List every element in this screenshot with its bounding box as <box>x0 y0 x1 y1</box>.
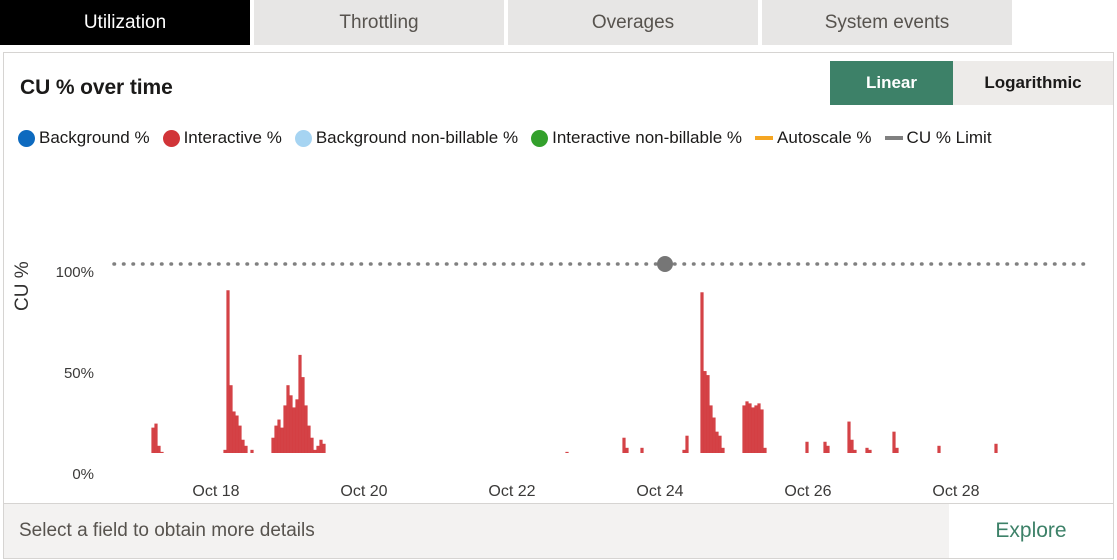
legend-item-background-non-billable[interactable]: Background non-billable % <box>295 128 518 148</box>
chart-legend: Background % Interactive % Background no… <box>18 128 1005 148</box>
card-footer: Select a field to obtain more details Ex… <box>3 504 1114 559</box>
legend-label: Interactive % <box>184 128 282 148</box>
legend-item-background[interactable]: Background % <box>18 128 150 148</box>
tab-label: System events <box>825 12 950 34</box>
legend-label: Interactive non-billable % <box>552 128 742 148</box>
legend-item-interactive-non-billable[interactable]: Interactive non-billable % <box>531 128 742 148</box>
logarithmic-scale-button[interactable]: Logarithmic <box>953 61 1113 105</box>
chart-plot-area[interactable]: CU % 100% 50% 0% Oct 18 Oct 20 Oct 22 Oc… <box>4 163 1113 453</box>
tab-system-events[interactable]: System events <box>762 0 1012 45</box>
legend-item-interactive[interactable]: Interactive % <box>163 128 282 148</box>
tab-bar: Utilization Throttling Overages System e… <box>0 0 1117 45</box>
x-axis-tick: Oct 28 <box>911 483 1001 501</box>
legend-label: Background non-billable % <box>316 128 518 148</box>
explore-button[interactable]: Explore <box>949 504 1113 558</box>
legend-dot-icon <box>163 130 180 147</box>
legend-dot-icon <box>531 130 548 147</box>
legend-dot-icon <box>295 130 312 147</box>
x-axis-tick: Oct 24 <box>615 483 705 501</box>
y-axis-tick: 0% <box>14 466 94 483</box>
legend-dash-icon <box>755 136 773 140</box>
legend-dash-icon <box>885 136 903 140</box>
tab-label: Utilization <box>84 12 166 34</box>
x-axis-tick: Oct 22 <box>467 483 557 501</box>
logarithmic-scale-label: Logarithmic <box>984 73 1081 93</box>
tab-utilization[interactable]: Utilization <box>0 0 250 45</box>
legend-label: Background % <box>39 128 150 148</box>
legend-item-cu-limit[interactable]: CU % Limit <box>885 128 992 148</box>
linear-scale-button[interactable]: Linear <box>830 61 953 105</box>
tab-label: Overages <box>592 12 674 34</box>
scale-toggle: Linear Logarithmic <box>830 61 1113 105</box>
x-axis-tick: Oct 18 <box>171 483 261 501</box>
tab-label: Throttling <box>339 12 418 34</box>
page-title: CU % over time <box>20 76 173 100</box>
linear-scale-label: Linear <box>866 73 917 93</box>
legend-label: CU % Limit <box>907 128 992 148</box>
chart-card: CU % over time Linear Logarithmic Backgr… <box>3 52 1114 504</box>
legend-label: Autoscale % <box>777 128 872 148</box>
legend-item-autoscale[interactable]: Autoscale % <box>755 128 872 148</box>
tab-overages[interactable]: Overages <box>508 0 758 45</box>
tab-throttling[interactable]: Throttling <box>254 0 504 45</box>
chart-svg <box>4 163 1113 453</box>
x-axis-tick: Oct 26 <box>763 483 853 501</box>
x-axis-tick: Oct 20 <box>319 483 409 501</box>
legend-dot-icon <box>18 130 35 147</box>
explore-label: Explore <box>995 519 1066 543</box>
footer-message: Select a field to obtain more details <box>4 504 949 558</box>
